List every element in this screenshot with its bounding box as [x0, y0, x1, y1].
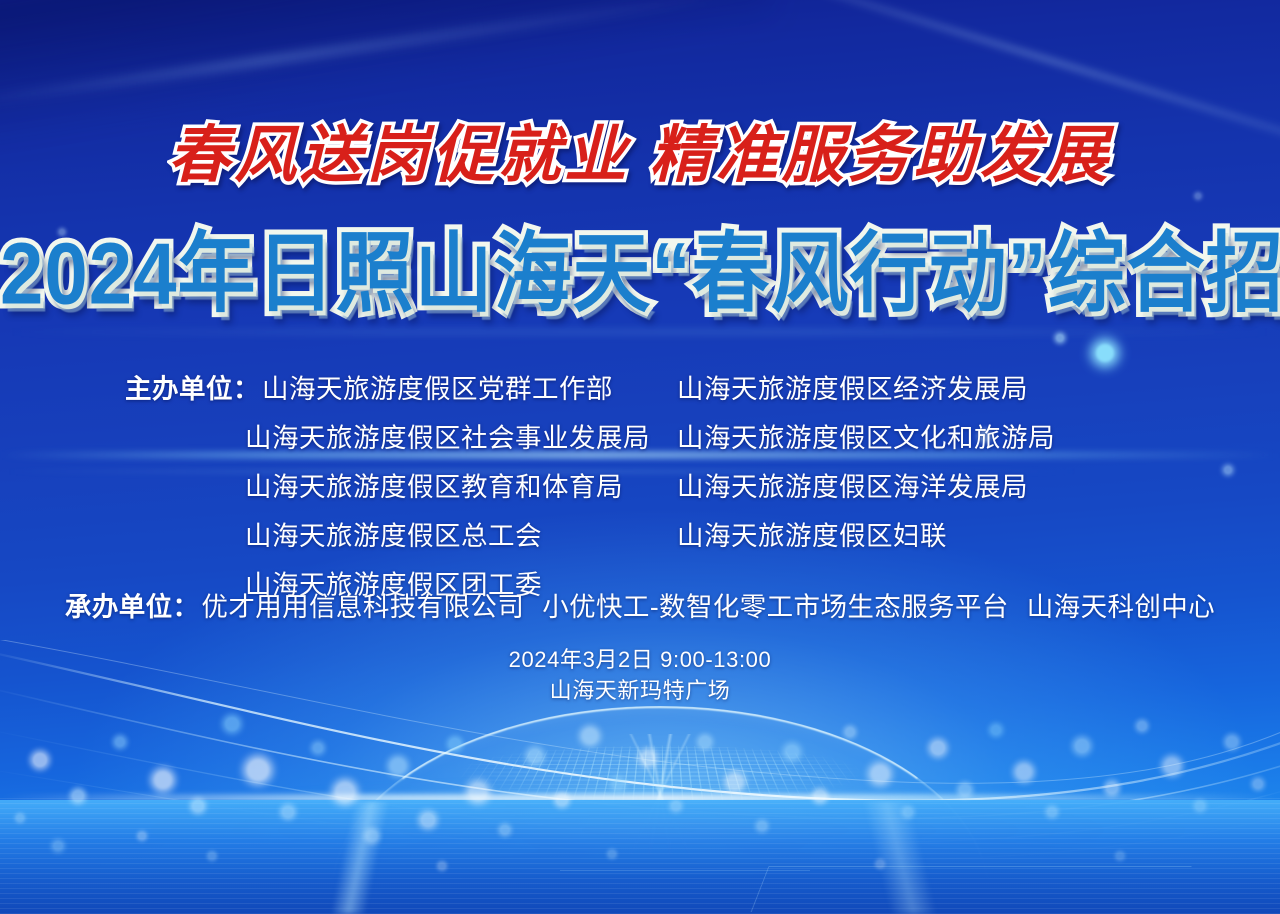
undertaker-name: 小优快工-数智化零工市场生态服务平台: [542, 592, 1009, 622]
globe-connection-lines: [480, 734, 840, 854]
light-particle: [225, 717, 239, 731]
light-particle: [1116, 852, 1124, 860]
light-particle: [814, 790, 826, 802]
lower-plane-panel-right: [751, 866, 1210, 912]
organizer-right-item: 山海天旅游度假区经济发展局: [677, 372, 1155, 406]
organizer-right-item: 山海天旅游度假区海洋发展局: [677, 470, 1155, 504]
light-particle: [876, 860, 884, 868]
organizer-name: 山海天旅游度假区党群工作部: [262, 374, 613, 404]
organizer-right-item: 山海天旅游度假区妇联: [677, 519, 1155, 553]
lower-plane-ray-right: [620, 802, 1180, 914]
lower-plane-panel-left: [560, 870, 810, 914]
light-particle: [1226, 736, 1238, 748]
globe-dome-graphic: [330, 706, 990, 896]
upper-light-band: [0, 330, 1280, 334]
light-particle: [556, 794, 568, 806]
light-particle: [33, 753, 47, 767]
organizers-label: 主办单位：: [125, 374, 260, 404]
light-particle: [1096, 344, 1114, 362]
light-particle: [1056, 334, 1064, 342]
lower-plane: [0, 800, 1280, 914]
light-particle: [959, 784, 971, 796]
light-particle: [1137, 721, 1147, 731]
light-particle: [1075, 739, 1089, 753]
light-particle: [1195, 801, 1205, 811]
organizer-left-item: 山海天旅游度假区教育和体育局: [125, 470, 677, 504]
light-particle: [208, 852, 216, 860]
light-particle: [421, 813, 435, 827]
undertaker-name: 优才用用信息科技有限公司: [201, 592, 524, 622]
light-particle: [757, 821, 767, 831]
light-particle: [871, 765, 889, 783]
organizers-section: 主办单位：山海天旅游度假区党群工作部山海天旅游度假区经济发展局山海天旅游度假区社…: [0, 372, 1280, 602]
scanline-texture: [0, 798, 1280, 914]
light-particle: [641, 751, 655, 765]
light-particle: [991, 725, 1001, 735]
light-particle: [1106, 782, 1118, 794]
light-particle: [469, 783, 487, 801]
light-particle: [72, 790, 84, 802]
light-particle: [785, 745, 799, 759]
undertaker-name: 山海天科创中心: [1027, 592, 1215, 622]
globe-rim: [330, 706, 990, 896]
light-particle: [154, 771, 172, 789]
globe-grid-mesh: [376, 746, 944, 808]
light-particle: [1164, 758, 1180, 774]
light-particle: [438, 862, 446, 870]
undertakers-line: 承办单位：优才用用信息科技有限公司小优快工-数智化零工市场生态服务平台山海天科创…: [0, 590, 1280, 624]
globe-rim-glow: [330, 706, 990, 896]
poster-title: 2024年日照山海天“春风行动”综合招聘会: [0, 204, 1280, 329]
light-particle: [699, 736, 711, 748]
organizer-right-item: 山海天旅游度假区文化和旅游局: [677, 421, 1155, 455]
poster-canvas: 春风送岗促就业 精准服务助发展 2024年日照山海天“春风行动”综合招聘会 主办…: [0, 0, 1280, 914]
lower-plane-ray-left: [150, 802, 570, 914]
top-light-streak: [0, 0, 717, 107]
light-particle: [1047, 807, 1057, 817]
organizer-left-item: 山海天旅游度假区社会事业发展局: [125, 421, 677, 455]
light-particle: [449, 738, 461, 750]
light-particle: [247, 759, 269, 781]
organizers-grid: 主办单位：山海天旅游度假区党群工作部山海天旅游度假区经济发展局山海天旅游度假区社…: [125, 372, 1155, 602]
event-meta: 2024年3月2日 9:00-13:00 山海天新玛特广场: [0, 644, 1280, 706]
light-particle: [528, 749, 542, 763]
light-particle: [671, 801, 681, 811]
event-datetime: 2024年3月2日 9:00-13:00: [0, 644, 1280, 675]
organizer-left-item: 主办单位：山海天旅游度假区党群工作部: [125, 372, 677, 406]
horizon-line: [0, 795, 1280, 801]
light-particle: [53, 841, 63, 851]
light-particle: [313, 743, 323, 753]
organizer-left-item: 山海天旅游度假区总工会: [125, 519, 677, 553]
light-particle: [282, 806, 294, 818]
light-particle: [1253, 779, 1263, 789]
light-particle: [16, 814, 24, 822]
light-particle: [192, 800, 204, 812]
event-venue: 山海天新玛特广场: [0, 675, 1280, 706]
light-particle: [390, 758, 406, 774]
light-particle: [727, 774, 743, 790]
light-particle: [608, 850, 616, 858]
light-particle: [115, 737, 125, 747]
undertakers-items: 优才用用信息科技有限公司小优快工-数智化零工市场生态服务平台山海天科创中心: [201, 592, 1215, 622]
light-particle: [366, 830, 378, 842]
light-particle: [500, 825, 510, 835]
light-particle: [335, 782, 355, 802]
horizon-glow: [0, 770, 1280, 890]
light-particle: [931, 741, 945, 755]
light-particle: [903, 807, 913, 817]
light-particle: [612, 778, 624, 790]
light-particle: [138, 832, 146, 840]
light-particle: [582, 728, 598, 744]
undertakers-label: 承办单位：: [65, 592, 200, 622]
light-particle: [845, 727, 855, 737]
poster-subtitle: 春风送岗促就业 精准服务助发展: [0, 104, 1280, 194]
light-particle: [1016, 764, 1032, 780]
